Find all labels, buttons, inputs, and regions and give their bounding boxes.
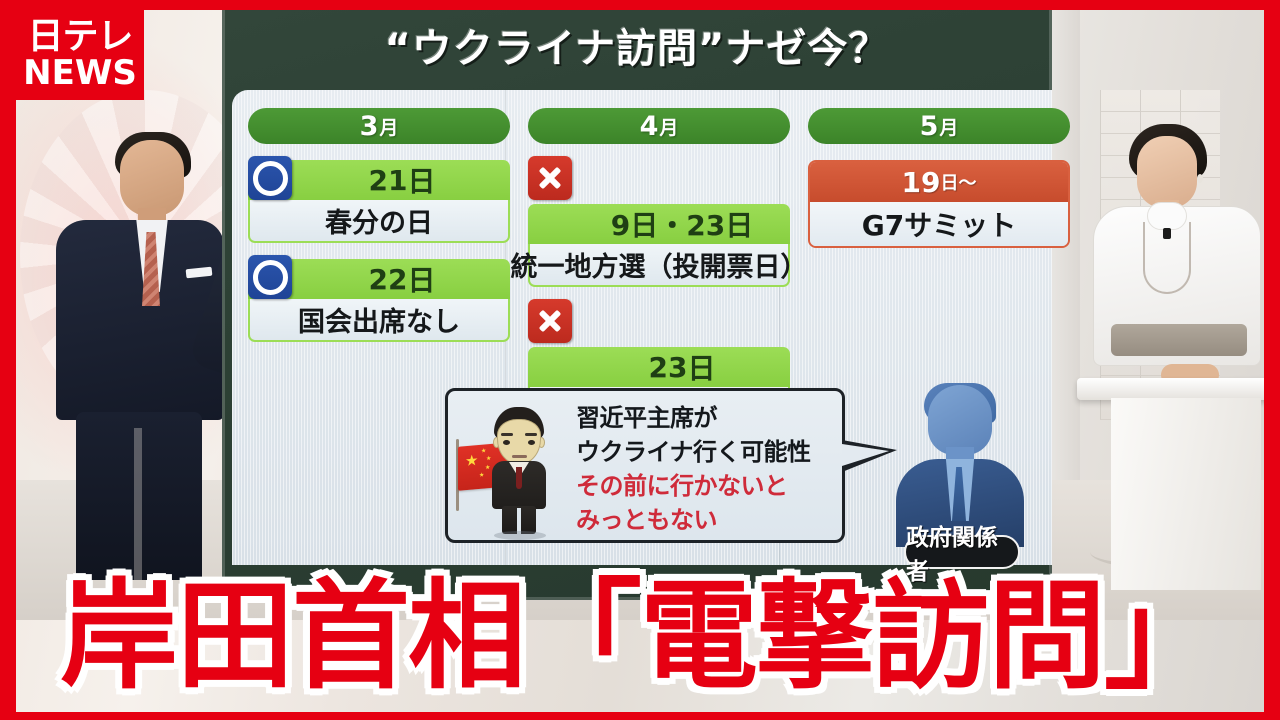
month-column-april: 4月 9日・23日 統一地方選（投開票日） 23日 衆・参補選	[528, 108, 790, 430]
banner-headline: 岸田首相「電撃訪問」	[0, 572, 1280, 700]
event-date: 9日・23	[611, 204, 725, 244]
lapel-mic-icon	[1163, 228, 1171, 239]
event-label: 国会出席なし	[298, 300, 460, 339]
event-card[interactable]: 9日・23日 統一地方選（投開票日）	[528, 160, 790, 287]
month-unit: 月	[659, 113, 678, 140]
xi-eye	[528, 440, 535, 445]
month-header-march: 3月	[248, 108, 510, 144]
quote-line: ウクライナ行く可能性	[576, 435, 838, 469]
event-card[interactable]: 21日 春分の日	[248, 160, 510, 243]
event-card[interactable]: 22日 国会出席なし	[248, 259, 510, 342]
event-date-unit: 日	[687, 347, 715, 387]
flag-star-small: ★	[479, 472, 484, 478]
xi-eyebrow	[525, 433, 537, 436]
event-date-unit: 日	[725, 204, 753, 244]
g7-label-band: G7サミット	[810, 202, 1068, 246]
anchor-head	[1137, 136, 1197, 208]
government-official-silhouette: 政府関係者	[890, 385, 1030, 550]
month-unit: 月	[939, 113, 958, 140]
xi-jinping-illustration: ★ ★ ★ ★ ★	[458, 399, 570, 534]
quote-line: 習近平主席が	[576, 401, 838, 435]
circle-icon	[248, 156, 292, 200]
frame-left	[0, 0, 16, 720]
logo-line-1: 日テレ	[27, 18, 132, 56]
g7-summit-card[interactable]: 19日〜 G7サミット	[808, 160, 1070, 248]
presenter-legs	[76, 412, 202, 580]
month-column-may: 5月 19日〜 G7サミット	[808, 108, 1070, 248]
frame-top	[0, 0, 1280, 10]
event-date-unit: 日	[407, 160, 435, 200]
quote-text: 習近平主席が ウクライナ行く可能性 その前に行かないと みっともない	[576, 401, 838, 537]
month-number: 3	[360, 111, 379, 142]
event-date-unit: 日	[407, 259, 435, 299]
female-presenter	[1085, 110, 1275, 580]
g7-date: 19	[902, 166, 941, 199]
month-unit: 月	[379, 113, 398, 140]
quote-bubble: ★ ★ ★ ★ ★	[445, 388, 845, 543]
quote-bubble-tail	[842, 440, 897, 472]
month-number: 4	[640, 111, 659, 142]
xi-mouth	[512, 455, 527, 458]
g7-label: G7サミット	[862, 204, 1016, 244]
g7-date-band: 19日〜	[810, 162, 1068, 202]
xi-shadow	[494, 531, 546, 540]
channel-logo: 日テレ NEWS	[16, 8, 144, 100]
anchor-earring	[1197, 174, 1203, 183]
anchor-desk-top	[1077, 378, 1280, 400]
event-date-band: 23日	[528, 347, 790, 387]
event-label-band: 国会出席なし	[248, 299, 510, 342]
broadcast-screen: “ウクライナ訪問”ナゼ今？ 3月 21日 春分の日 22日	[0, 0, 1280, 720]
bottom-banner: 岸田首相「電撃訪問」	[0, 560, 1280, 720]
male-presenter	[20, 120, 230, 580]
quote-line: その前に行かないと	[576, 469, 838, 503]
cross-icon	[528, 156, 572, 200]
event-label: 統一地方選	[511, 245, 646, 284]
xi-figure	[488, 407, 550, 533]
presenter-head	[120, 140, 184, 216]
month-number: 5	[920, 111, 939, 142]
month-header-april: 4月	[528, 108, 790, 144]
board-panel: 3月 21日 春分の日 22日 国会出席なし	[232, 90, 1052, 565]
silhouette-head	[928, 385, 992, 455]
month-header-may: 5月	[808, 108, 1070, 144]
flag-star-small: ★	[481, 448, 486, 454]
event-date: 21	[369, 164, 408, 197]
g7-date-unit: 日〜	[940, 169, 976, 195]
event-label-band: 統一地方選（投開票日）	[528, 244, 790, 287]
frame-right	[1264, 0, 1280, 720]
event-label: 春分の日	[325, 201, 433, 240]
xi-legs	[502, 506, 536, 534]
quote-line: みっともない	[576, 503, 838, 537]
cross-icon	[528, 299, 572, 343]
xi-tie	[516, 467, 522, 489]
xi-eye	[503, 440, 510, 445]
logo-line-2: NEWS	[23, 56, 137, 90]
anchor-sash	[1111, 324, 1247, 356]
event-date: 23	[649, 351, 688, 384]
board-title: “ウクライナ訪問”ナゼ今？	[222, 16, 1052, 74]
event-date: 22	[369, 263, 408, 296]
xi-eyebrow	[501, 433, 513, 436]
frame-bottom	[0, 712, 1280, 720]
month-column-march: 3月 21日 春分の日 22日 国会出席なし	[248, 108, 510, 342]
event-date-band: 9日・23日	[528, 204, 790, 244]
event-label-note: （投開票日）	[646, 245, 808, 284]
circle-icon	[248, 255, 292, 299]
flag-star-large: ★	[465, 453, 478, 469]
event-label-band: 春分の日	[248, 200, 510, 243]
